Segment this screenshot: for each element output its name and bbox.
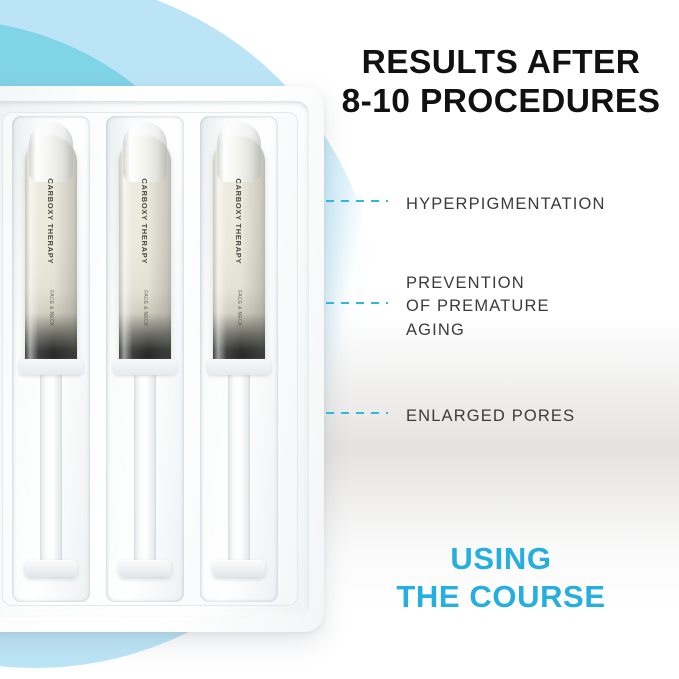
- syringe-label-sub: FACE & NECK: [236, 290, 242, 326]
- callout-item: PREVENTION OF PREMATURE AGING: [326, 272, 550, 342]
- syringe-label: CARBOXY THERAPY FACE & NECK: [25, 136, 77, 369]
- product-photo: CARBOXY THERAPY FACE & NECK CARBOXY THER…: [0, 86, 324, 632]
- dashed-connector-icon: [326, 302, 388, 304]
- promo-graphic: CARBOXY THERAPY FACE & NECK CARBOXY THER…: [0, 0, 679, 679]
- syringe-label: CARBOXY THERAPY FACE & NECK: [213, 136, 265, 369]
- syringe-label-main: CARBOXY THERAPY: [235, 178, 244, 264]
- syringe-plunger-thumb: [25, 560, 77, 577]
- tray-cell: CARBOXY THERAPY FACE & NECK: [200, 116, 278, 602]
- footer-caption: USING THE COURSE: [333, 540, 669, 616]
- footer-line-2: THE COURSE: [333, 578, 669, 616]
- syringe-plunger-shaft: [228, 366, 250, 566]
- headline: RESULTS AFTER 8-10 PROCEDURES: [333, 44, 669, 122]
- callout-label: ENLARGED PORES: [406, 405, 575, 428]
- callout-item: ENLARGED PORES: [326, 405, 575, 428]
- callout-item: HYPERPIGMENTATION: [326, 193, 606, 216]
- syringe-label: CARBOXY THERAPY FACE & NECK: [119, 136, 171, 369]
- dashed-connector-icon: [326, 412, 388, 414]
- callout-label: PREVENTION OF PREMATURE AGING: [406, 272, 550, 342]
- headline-line-1: RESULTS AFTER: [362, 44, 641, 81]
- syringe-label-sub: FACE & NECK: [48, 290, 54, 326]
- tray-cell: CARBOXY THERAPY FACE & NECK: [106, 116, 184, 602]
- footer-line-1: USING: [450, 541, 551, 576]
- syringe-label-main: CARBOXY THERAPY: [141, 178, 150, 264]
- syringe-plunger-shaft: [134, 366, 156, 566]
- syringe: CARBOXY THERAPY FACE & NECK: [200, 116, 278, 602]
- syringe: CARBOXY THERAPY FACE & NECK: [106, 116, 184, 602]
- syringe-label-main: CARBOXY THERAPY: [47, 178, 56, 264]
- syringe-plunger-thumb: [119, 560, 171, 577]
- syringe-plunger-shaft: [40, 366, 62, 566]
- syringe: CARBOXY THERAPY FACE & NECK: [12, 116, 90, 602]
- headline-line-2: 8-10 PROCEDURES: [333, 83, 669, 122]
- callout-label: HYPERPIGMENTATION: [406, 193, 606, 216]
- tray-cell: CARBOXY THERAPY FACE & NECK: [12, 116, 90, 602]
- syringe-plunger-thumb: [213, 560, 265, 577]
- dashed-connector-icon: [326, 200, 388, 202]
- syringe-label-sub: FACE & NECK: [142, 290, 148, 326]
